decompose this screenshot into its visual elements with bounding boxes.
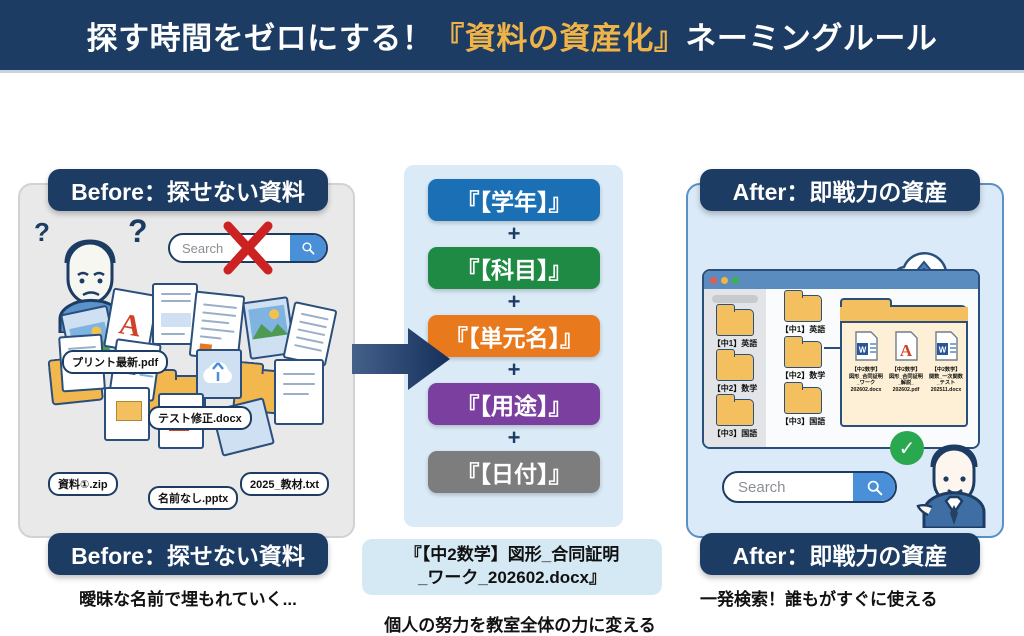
- file-tag: プリント最新.pdf: [62, 350, 168, 374]
- pile-zip-doc: [104, 387, 150, 441]
- tree-folder-label: 【中2】数学: [774, 370, 832, 381]
- after-badge-bottom: After：即戦力の資産: [700, 533, 980, 575]
- pile-text-doc: [274, 359, 324, 425]
- file-tag: 2025_教材.txt: [240, 472, 329, 496]
- rule-pill-grade: 『【学年】』: [428, 179, 600, 221]
- rule-pill-date: 『【日付】』: [428, 451, 600, 493]
- explorer-sidebar: 【中1】英語 【中2】数学 【中3】国語: [704, 289, 766, 449]
- success-check-icon: ✓: [890, 431, 924, 465]
- sidebar-search-placeholder-bar: [712, 295, 758, 303]
- folder-tree: 【中1】英語 【中2】数学 【中3】国語: [774, 295, 832, 427]
- folder-icon: [784, 341, 822, 368]
- file-name: 【中2数学】 関数_一次関数 _テスト 202511.docx: [926, 367, 966, 393]
- file-item[interactable]: W 【中2数学】 関数_一次関数 _テスト 202511.docx: [926, 331, 966, 393]
- svg-text:W: W: [859, 346, 867, 355]
- file-tag: 名前なし.pptx: [148, 486, 238, 510]
- sidebar-folder-item[interactable]: 【中3】国語: [704, 399, 766, 439]
- folder-band: [840, 307, 968, 323]
- svg-text:A: A: [900, 341, 913, 360]
- example-filename-box: 『【中2数学】図形_合同証明 _ワーク_202602.docx』: [362, 539, 662, 595]
- tree-folder-label: 【中1】英語: [774, 324, 832, 335]
- question-mark-icon: ?: [128, 213, 148, 250]
- minimize-dot-icon[interactable]: [721, 277, 728, 284]
- file-item[interactable]: W 【中2数学】 図形_合同証明 _ワーク 202602.docx: [846, 331, 886, 393]
- pile-table-doc: [282, 301, 337, 367]
- folder-icon: [716, 399, 754, 426]
- search-icon[interactable]: [853, 473, 895, 501]
- plus-separator: +: [428, 359, 600, 381]
- folder-icon: [716, 309, 754, 336]
- rule-pill-purpose: 『【用途】』: [428, 383, 600, 425]
- file-explorer-window[interactable]: 【中1】英語 【中2】数学 【中3】国語 【中1】英語: [702, 269, 980, 449]
- example-filename-line2: _ワーク_202602.docx』: [418, 567, 606, 590]
- file-tag: テスト修正.docx: [148, 406, 252, 430]
- expanded-folder-view: W 【中2数学】 図形_合同証明 _ワーク 202602.docx A 【中2数…: [840, 305, 968, 427]
- example-filename-line1: 『【中2数学】図形_合同証明: [405, 544, 619, 567]
- maximize-dot-icon[interactable]: [732, 277, 739, 284]
- question-mark-icon: ?: [34, 217, 50, 248]
- plus-separator: +: [428, 223, 600, 245]
- explorer-title-bar: [704, 271, 978, 289]
- sidebar-folder-label: 【中1】英語: [704, 338, 766, 349]
- sidebar-folder-label: 【中3】国語: [704, 428, 766, 439]
- pile-cloud-doc: [196, 349, 242, 399]
- rule-pill-unit: 『【単元名】』: [428, 315, 600, 357]
- explorer-body: 【中1】英語 【中2】数学 【中3】国語 【中1】英語: [704, 289, 978, 449]
- page-title: 探す時間をゼロにする！『資料の資産化』ネーミングルール: [87, 13, 938, 58]
- before-caption: 曖昧な名前で埋もれていく...: [28, 585, 348, 610]
- svg-text:W: W: [939, 346, 947, 355]
- sidebar-folder-label: 【中2】数学: [704, 383, 766, 394]
- folder-icon: [716, 354, 754, 381]
- file-item[interactable]: A 【中2数学】 図形_合同証明 _解説_ 202602.pdf: [886, 331, 926, 393]
- file-tag: 資料①.zip: [48, 472, 118, 496]
- sidebar-folder-item[interactable]: 【中2】数学: [704, 354, 766, 394]
- transition-arrow-icon: [352, 328, 450, 390]
- after-search-bar[interactable]: Search: [722, 471, 897, 503]
- header-title-part2: ネーミングルール: [685, 21, 937, 56]
- folder-icon: [784, 387, 822, 414]
- folder-icon: [784, 295, 822, 322]
- plus-separator: +: [428, 427, 600, 449]
- after-badge-top: After：即戦力の資産: [700, 169, 980, 211]
- infographic-stage: Before：探せない資料 ? ? Search: [0, 73, 1024, 572]
- center-caption: 個人の努力を教室全体の力に変える: [330, 611, 710, 636]
- tree-folder-item[interactable]: 【中1】英語: [774, 295, 832, 335]
- rule-pill-subject: 『【科目】』: [428, 247, 600, 289]
- file-name: 【中2数学】 図形_合同証明 _解説_ 202602.pdf: [886, 367, 926, 393]
- after-caption: 一発検索！誰もがすぐに使える: [700, 585, 990, 610]
- close-dot-icon[interactable]: [710, 277, 717, 284]
- before-badge-top: Before：探せない資料: [48, 169, 328, 211]
- after-search-placeholder: Search: [724, 479, 853, 496]
- red-x-icon: [218, 218, 278, 278]
- happy-person-illustration: [916, 433, 1002, 528]
- header-title-accent: 『資料の資産化』: [433, 21, 685, 56]
- header-title-part1: 探す時間をゼロにする！: [87, 21, 434, 56]
- explorer-main-pane: 【中1】英語 【中2】数学 【中3】国語: [766, 289, 978, 449]
- tree-folder-item[interactable]: 【中3】国語: [774, 387, 832, 427]
- page-header: 探す時間をゼロにする！『資料の資産化』ネーミングルール: [0, 0, 1024, 70]
- tree-folder-label: 【中3】国語: [774, 416, 832, 427]
- file-name: 【中2数学】 図形_合同証明 _ワーク 202602.docx: [846, 367, 886, 393]
- search-icon[interactable]: [290, 235, 326, 261]
- before-badge-bottom: Before：探せない資料: [48, 533, 328, 575]
- sidebar-folder-item[interactable]: 【中1】英語: [704, 309, 766, 349]
- messy-file-pile: A W P: [30, 283, 350, 503]
- plus-separator: +: [428, 291, 600, 313]
